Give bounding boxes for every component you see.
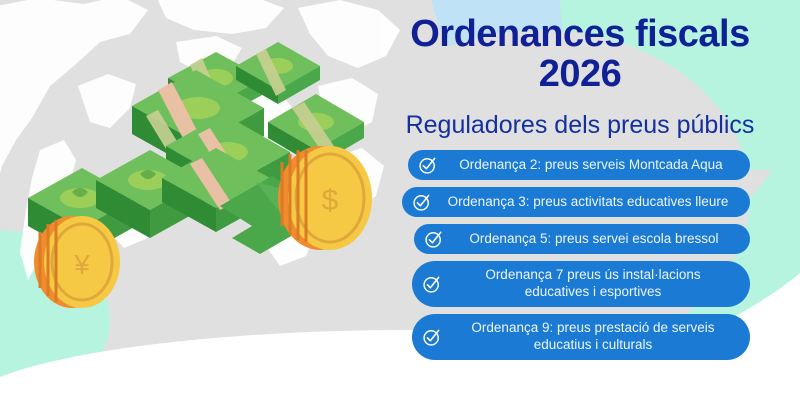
title-line-2: 2026 xyxy=(380,54,780,94)
coin-dollar: $ xyxy=(278,146,372,250)
page-title: Ordenances fiscals 2026 xyxy=(380,14,780,95)
list-item[interactable]: Ordenança 7 preus ús instal·lacions educ… xyxy=(412,261,750,307)
list-item-label: Ordenança 2: preus serveis Montcada Aqua xyxy=(444,157,738,174)
list-item[interactable]: Ordenança 3: preus activitats educatives… xyxy=(402,187,750,217)
ordinance-list: Ordenança 2: preus serveis Montcada Aqua… xyxy=(380,150,800,367)
money-illustration: $ ¥ xyxy=(20,30,400,310)
list-item-label: Ordenança 7 preus ús instal·lacions educ… xyxy=(448,267,738,301)
list-item[interactable]: Ordenança 2: preus serveis Montcada Aqua xyxy=(408,150,750,180)
content-column: Ordenances fiscals 2026 Reguladores dels… xyxy=(380,0,800,400)
page-subtitle: Reguladores dels preus públics xyxy=(380,112,780,140)
poster-canvas: $ ¥ Ordenances fiscals 2026 Reguladores … xyxy=(0,0,800,400)
svg-text:¥: ¥ xyxy=(73,249,90,280)
check-circle-icon xyxy=(422,274,442,294)
svg-text:$: $ xyxy=(322,184,339,217)
list-item-label: Ordenança 9: preus prestació de serveis … xyxy=(448,320,738,354)
list-item-label: Ordenança 5: preus servei escola bressol xyxy=(450,231,738,248)
check-circle-icon xyxy=(418,155,438,175)
check-circle-icon xyxy=(412,192,432,212)
coin-yen: ¥ xyxy=(34,216,120,308)
check-circle-icon xyxy=(424,229,444,249)
list-item[interactable]: Ordenança 9: preus prestació de serveis … xyxy=(412,314,750,360)
list-item-label: Ordenança 3: preus activitats educatives… xyxy=(438,194,738,211)
title-line-1: Ordenances fiscals xyxy=(380,14,780,54)
list-item[interactable]: Ordenança 5: preus servei escola bressol xyxy=(414,224,750,254)
check-circle-icon xyxy=(422,327,442,347)
